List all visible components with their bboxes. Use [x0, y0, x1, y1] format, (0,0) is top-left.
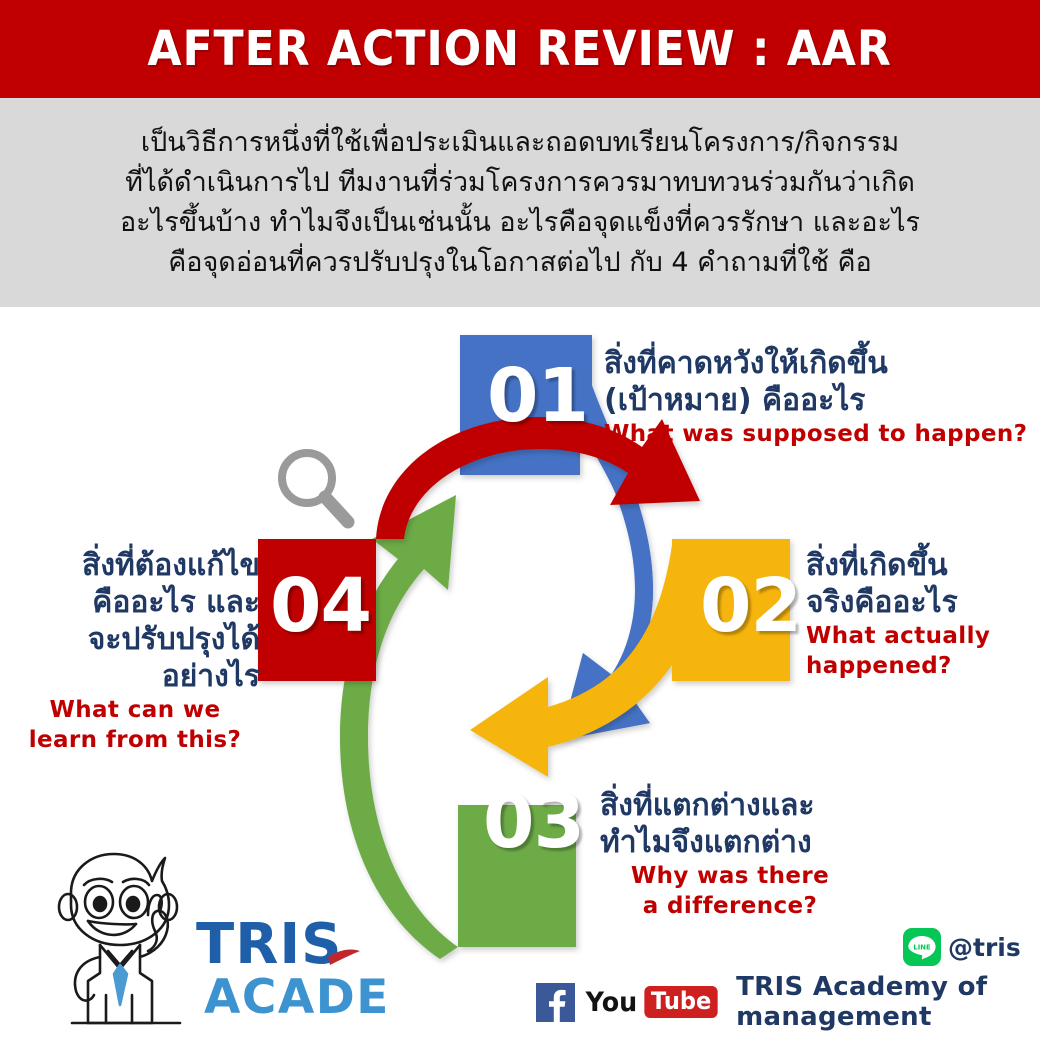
- intro-line-1: เป็นวิธีการหนึ่งที่ใช้เพื่อประเมินและถอด…: [40, 123, 1000, 163]
- tris-wordmark-primary: TRIS: [196, 912, 343, 977]
- step-number-02: 02: [700, 569, 801, 643]
- social-handle-text: TRIS Academy of management: [736, 972, 1040, 1032]
- step-01-thai-line-2: (เป้าหมาย) คืออะไร: [604, 382, 1034, 419]
- step-03-thai-line-1: สิ่งที่แตกต่างและ: [600, 787, 900, 824]
- youtube-icon[interactable]: You Tube: [584, 986, 720, 1018]
- step-number-01: 01: [487, 359, 588, 433]
- step-01-thai-line-1: สิ่งที่คาดหวังให้เกิดขึ้น: [604, 345, 1034, 382]
- step-01-english: What was supposed to happen?: [604, 419, 1034, 449]
- step-number-04: 04: [270, 569, 371, 643]
- step-03-english-line-1: Why was there: [600, 861, 860, 891]
- step-02-english-line-1: What actually: [806, 621, 1038, 651]
- step-04-english-line-1: What can we: [10, 695, 260, 725]
- social-row: You Tube TRIS Academy of management: [536, 972, 1040, 1032]
- line-icon-label: LINE: [913, 944, 931, 952]
- step-04-thai-line-1: สิ่งที่ต้องแก้ไข: [10, 547, 260, 584]
- magnifier-icon: [272, 445, 362, 535]
- step-text-04: สิ่งที่ต้องแก้ไข คืออะไร และ จะปรับปรุงไ…: [10, 547, 260, 755]
- step-02-thai-line-2: จริงคืออะไร: [806, 584, 1038, 621]
- intro-line-4: คือจุดอ่อนที่ควรปรับปรุงในโอกาสต่อไป กับ…: [40, 243, 1000, 283]
- step-02-thai-line-1: สิ่งที่เกิดขึ้น: [806, 547, 1038, 584]
- step-text-01: สิ่งที่คาดหวังให้เกิดขึ้น (เป้าหมาย) คือ…: [604, 345, 1034, 449]
- step-03-thai-line-2: ทำไมจึงแตกต่าง: [600, 824, 900, 861]
- step-04-thai-line-4: อย่างไร: [10, 658, 260, 695]
- facebook-icon[interactable]: [536, 983, 575, 1022]
- step-text-03: สิ่งที่แตกต่างและ ทำไมจึงแตกต่าง Why was…: [600, 787, 900, 921]
- line-contact-row[interactable]: LINE @tris: [903, 928, 1021, 966]
- intro-text: เป็นวิธีการหนึ่งที่ใช้เพื่อประเมินและถอด…: [40, 123, 1000, 283]
- intro-panel: เป็นวิธีการหนึ่งที่ใช้เพื่อประเมินและถอด…: [0, 98, 1040, 307]
- youtube-tube-label: Tube: [644, 986, 718, 1018]
- line-handle[interactable]: @tris: [948, 933, 1021, 962]
- page-title: AFTER ACTION REVIEW : AAR: [148, 25, 892, 73]
- step-02-english-line-2: happened?: [806, 651, 1038, 681]
- step-text-02: สิ่งที่เกิดขึ้น จริงคืออะไร What actuall…: [806, 547, 1038, 681]
- youtube-you-label: You: [586, 989, 638, 1016]
- mascot-icon: [59, 854, 180, 1023]
- step-04-thai-line-2: คืออะไร และ: [10, 584, 260, 621]
- step-number-03: 03: [483, 785, 584, 859]
- step-04-english-line-2: learn from this?: [10, 725, 260, 755]
- header-bar: AFTER ACTION REVIEW : AAR: [0, 0, 1040, 98]
- step-04-thai-line-3: จะปรับปรุงได้: [10, 621, 260, 658]
- tris-wordmark: TRIS ACADEMY: [196, 912, 388, 1025]
- tris-academy-logo: TRIS ACADEMY: [28, 845, 388, 1030]
- infographic-canvas: AFTER ACTION REVIEW : AAR เป็นวิธีการหนึ…: [0, 0, 1040, 1040]
- intro-line-2: ที่ได้ดำเนินการไป ทีมงานที่ร่วมโครงการคว…: [40, 163, 1000, 203]
- tris-wordmark-secondary: ACADEMY: [204, 970, 388, 1025]
- intro-line-3: อะไรขึ้นบ้าง ทำไมจึงเป็นเช่นนั้น อะไรคือ…: [40, 203, 1000, 243]
- step-03-english-line-2: a difference?: [600, 891, 860, 921]
- line-icon[interactable]: LINE: [903, 928, 941, 966]
